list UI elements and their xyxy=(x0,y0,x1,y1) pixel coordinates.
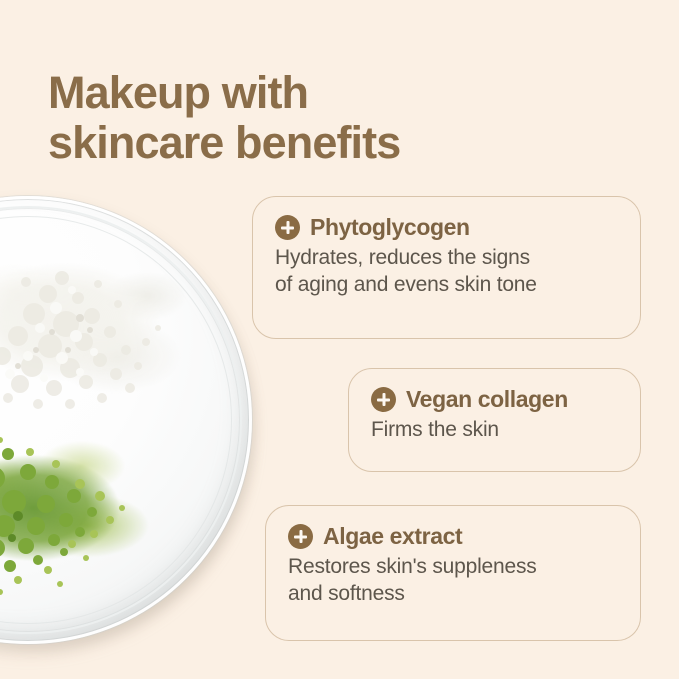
benefit-card-header: Vegan collagen xyxy=(371,387,618,412)
green-powder-grain xyxy=(0,424,190,599)
benefit-card-header: Phytoglycogen xyxy=(275,215,618,240)
benefit-description: Hydrates, reduces the signs of aging and… xyxy=(275,245,618,299)
white-powder-grain xyxy=(0,232,230,432)
benefit-title: Phytoglycogen xyxy=(310,215,470,240)
benefit-card-vegan-collagen[interactable]: Vegan collagen Firms the skin xyxy=(348,368,641,472)
benefit-card-phytoglycogen[interactable]: Phytoglycogen Hydrates, reduces the sign… xyxy=(252,196,641,339)
benefit-card-header: Algae extract xyxy=(288,524,618,549)
benefit-title: Vegan collagen xyxy=(406,387,568,412)
plus-icon xyxy=(288,524,313,549)
benefit-card-algae-extract[interactable]: Algae extract Restores skin's suppleness… xyxy=(265,505,641,641)
benefit-description: Firms the skin xyxy=(371,417,618,444)
page-title: Makeup with skincare benefits xyxy=(48,68,588,168)
plus-icon xyxy=(371,387,396,412)
product-benefits-graphic: Makeup with skincare benefits Phytoglyco… xyxy=(0,0,679,679)
plus-icon xyxy=(275,215,300,240)
benefit-description: Restores skin's suppleness and softness xyxy=(288,554,618,608)
benefit-title: Algae extract xyxy=(323,524,462,549)
